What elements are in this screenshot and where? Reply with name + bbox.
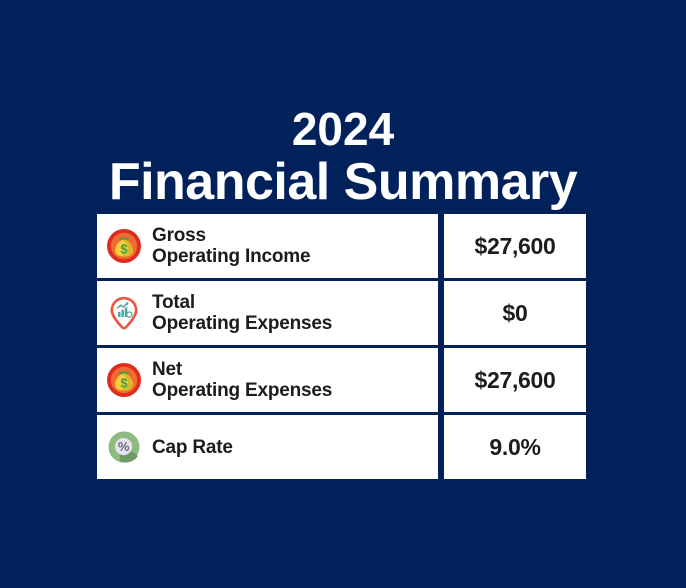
poster-title: 2024 Financial Summary bbox=[0, 104, 686, 210]
table-row-value: 9.0% bbox=[489, 434, 540, 461]
financial-summary-table: $ Gross Operating Income $27,600 bbox=[97, 214, 586, 479]
table-row-label-cell: % Cap Rate bbox=[97, 415, 438, 479]
table-row-value: $27,600 bbox=[474, 367, 555, 394]
percent-icon: % bbox=[106, 429, 142, 465]
table-row-value: $27,600 bbox=[474, 233, 555, 260]
expense-chart-pin-icon bbox=[106, 295, 142, 331]
table-row-value-cell: $27,600 bbox=[444, 348, 586, 412]
table-row: $ Net Operating Expenses $27,600 bbox=[97, 348, 586, 412]
table-row: $ Gross Operating Income $27,600 bbox=[97, 214, 586, 278]
table-row-value-cell: $27,600 bbox=[444, 214, 586, 278]
title-main: Financial Summary bbox=[0, 154, 686, 210]
title-year: 2024 bbox=[0, 104, 686, 154]
table-row-label: Net Operating Expenses bbox=[152, 359, 332, 401]
table-row-label-cell: $ Net Operating Expenses bbox=[97, 348, 438, 412]
table-row-label-cell: Total Operating Expenses bbox=[97, 281, 438, 345]
svg-text:$: $ bbox=[121, 376, 128, 390]
table-row: % Cap Rate 9.0% bbox=[97, 415, 586, 479]
svg-text:$: $ bbox=[121, 242, 128, 256]
table-row-label: Gross Operating Income bbox=[152, 225, 310, 267]
money-bag-icon: $ bbox=[106, 362, 142, 398]
table-row-value: $0 bbox=[503, 300, 528, 327]
table-row-label: Cap Rate bbox=[152, 437, 233, 458]
table-row-value-cell: 9.0% bbox=[444, 415, 586, 479]
money-bag-icon: $ bbox=[106, 228, 142, 264]
svg-text:%: % bbox=[118, 439, 130, 454]
table-row-label-cell: $ Gross Operating Income bbox=[97, 214, 438, 278]
table-row-value-cell: $0 bbox=[444, 281, 586, 345]
table-row-label: Total Operating Expenses bbox=[152, 292, 332, 334]
table-row: Total Operating Expenses $0 bbox=[97, 281, 586, 345]
financial-summary-poster: 2024 Financial Summary $ Gross bbox=[0, 0, 686, 588]
